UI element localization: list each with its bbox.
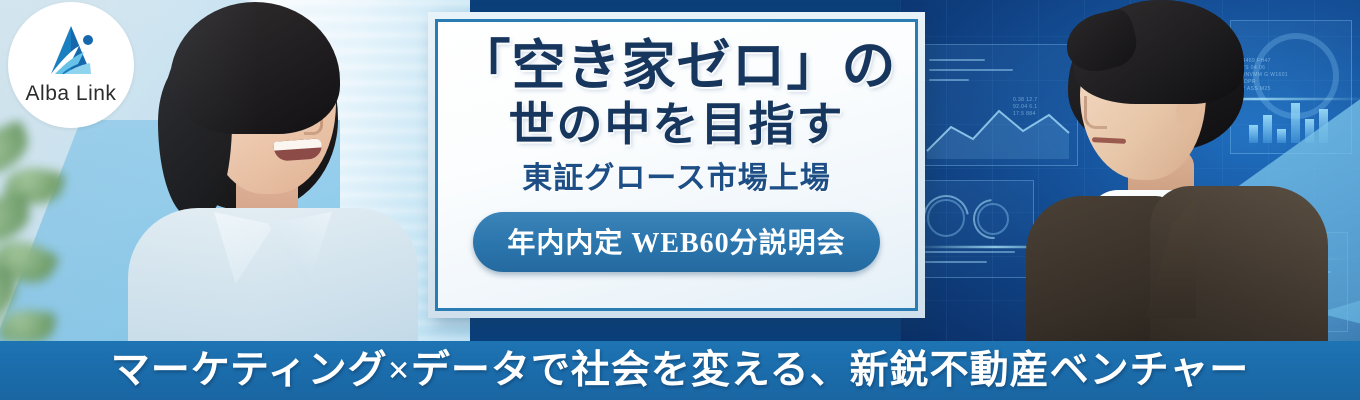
businessman-photo — [1018, 0, 1318, 345]
brand-logo-badge[interactable]: Alba Link — [8, 2, 134, 128]
tagline-bar: マーケティング×データで社会を変える、新鋭不動産ベンチャー — [0, 341, 1360, 400]
message-panel: 「空き家ゼロ」の 世の中を目指す 東証グロース市場上場 年内内定 WEB60分説… — [428, 12, 925, 318]
brand-name-label: Alba Link — [26, 82, 117, 106]
headline-line-2: 世の中を目指す — [509, 98, 845, 152]
tagline-text: マーケティング×データで社会を変える、新鋭不動産ベンチャー — [111, 348, 1250, 394]
right-photo-region: 0.38 12.7 92.04 6.1 17.5 884 — [900, 0, 1360, 345]
triangle-logo-icon — [38, 24, 104, 80]
recruitment-banner: 0.38 12.7 92.04 6.1 17.5 884 — [0, 0, 1360, 400]
hud-panel-gauges — [912, 180, 1034, 278]
listing-subtitle: 東証グロース市場上場 — [522, 160, 831, 198]
headline-line-1: 「空き家ゼロ」の — [457, 36, 897, 96]
message-panel-inner: 「空き家ゼロ」の 世の中を目指す 東証グロース市場上場 年内内定 WEB60分説… — [435, 19, 918, 311]
webinar-cta-button[interactable]: 年内内定 WEB60分説明会 — [473, 212, 879, 272]
